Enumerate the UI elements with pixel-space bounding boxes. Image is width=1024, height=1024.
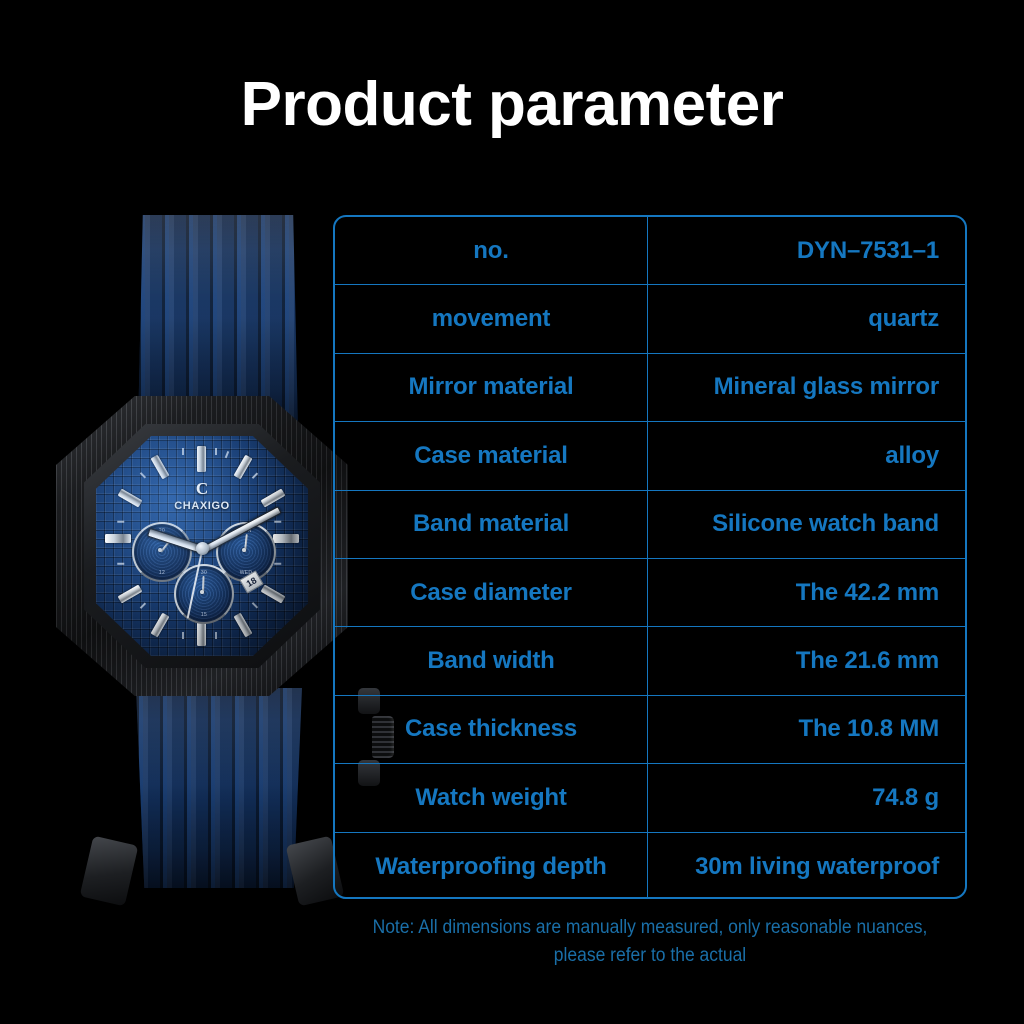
spec-table: no. DYN–7531–1 movement quartz Mirror ma… [333,215,967,899]
spec-label: Band width [335,627,648,694]
spec-value: The 10.8 MM [648,696,965,763]
footer-note: Note: All dimensions are manually measur… [310,914,991,970]
spec-value: 30m living waterproof [648,833,965,899]
table-row: Case material alloy [335,422,965,490]
watch-lug [80,836,139,907]
table-row: Watch weight 74.8 g [335,764,965,832]
spec-label: Watch weight [335,764,648,831]
spec-label: Band material [335,491,648,558]
spec-value: alloy [648,422,965,489]
spec-label: Mirror material [335,354,648,421]
footer-note-line-2: please refer to the actual [310,942,991,970]
page-title: Product parameter [0,74,1024,136]
table-row: Band width The 21.6 mm [335,627,965,695]
product-image-watch: C CHAXIGO 20 12 SUN WED 30 15 [18,200,348,910]
spec-value: Silicone watch band [648,491,965,558]
spec-label: no. [335,217,648,284]
spec-label: Case thickness [335,696,648,763]
spec-value: Mineral glass mirror [648,354,965,421]
table-row: Mirror material Mineral glass mirror [335,354,965,422]
spec-value: The 42.2 mm [648,559,965,626]
table-row: Case diameter The 42.2 mm [335,559,965,627]
spec-value: quartz [648,285,965,352]
dial-vignette [96,436,308,656]
spec-label: Case diameter [335,559,648,626]
spec-label: movement [335,285,648,352]
footer-note-line-1: Note: All dimensions are manually measur… [310,914,991,942]
spec-label: Waterproofing depth [335,833,648,899]
table-row: Case thickness The 10.8 MM [335,696,965,764]
watch-case: C CHAXIGO 20 12 SUN WED 30 15 [46,388,356,706]
spec-label: Case material [335,422,648,489]
watch-dial: C CHAXIGO 20 12 SUN WED 30 15 [96,436,308,656]
table-row: Band material Silicone watch band [335,491,965,559]
spec-value: 74.8 g [648,764,965,831]
table-row: no. DYN–7531–1 [335,217,965,285]
table-row: movement quartz [335,285,965,353]
spec-value: The 21.6 mm [648,627,965,694]
table-row: Waterproofing depth 30m living waterproo… [335,833,965,899]
strap-gloss [136,688,302,888]
watch-strap-lower [136,688,302,888]
spec-value: DYN–7531–1 [648,217,965,284]
